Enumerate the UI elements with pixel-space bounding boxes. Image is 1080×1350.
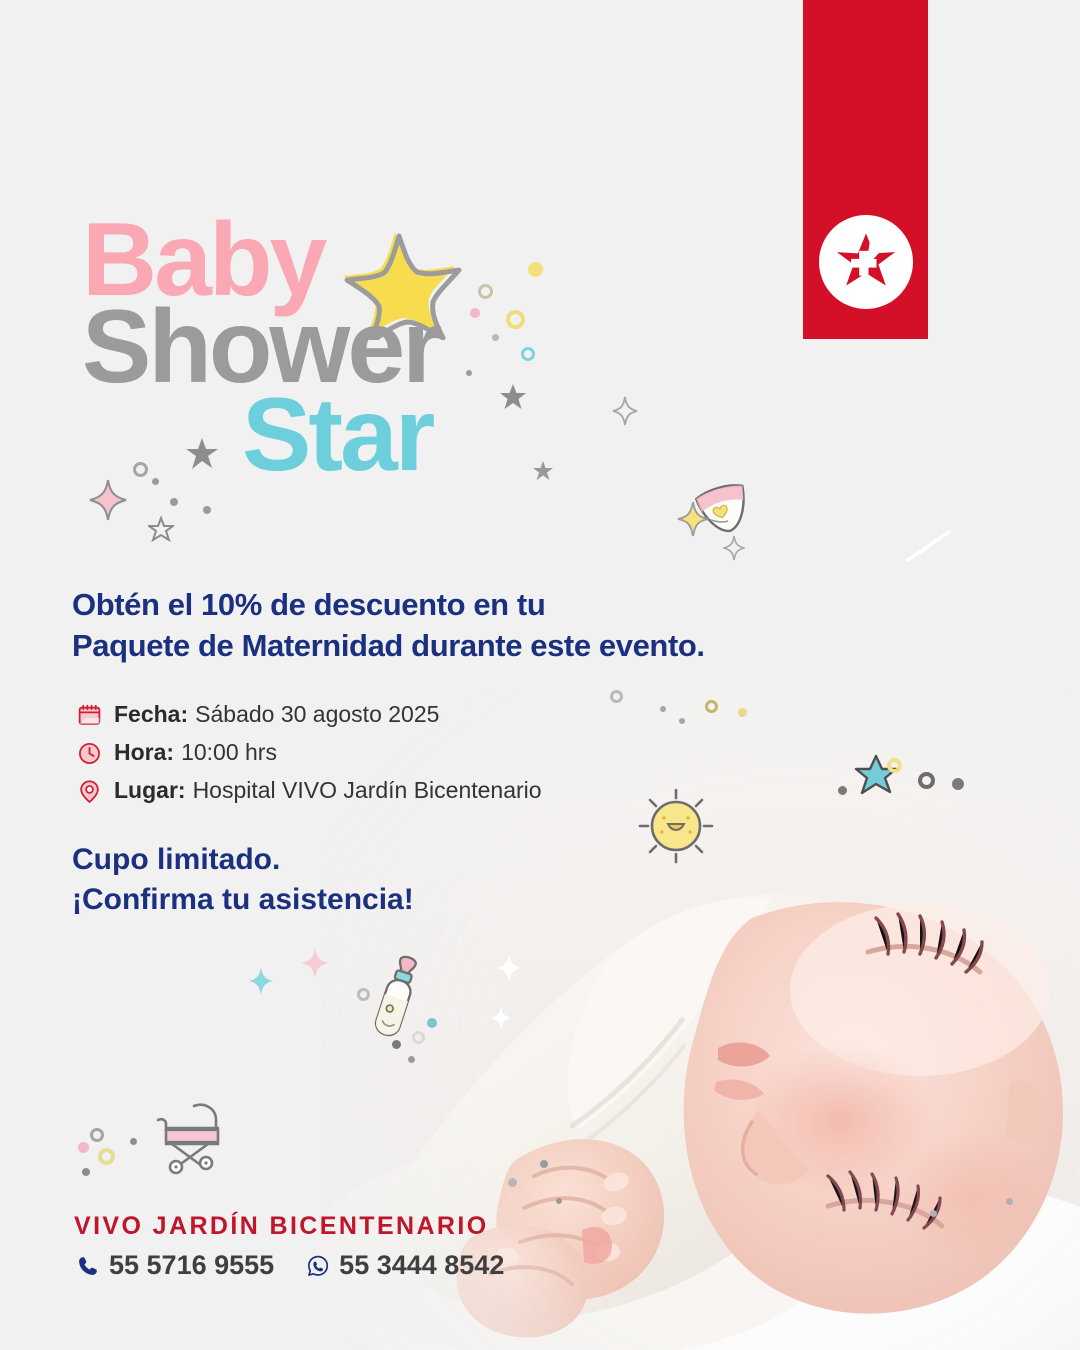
footer: VIVO JARDÍN BICENTENARIO 55 5716 9555 (74, 1212, 504, 1281)
confetti-dot (508, 1178, 517, 1187)
baby-bottle-doodle-icon (362, 952, 430, 1046)
headline-line-1: Obtén el 10% de descuento en tu (72, 585, 705, 626)
shooting-star-icon (905, 530, 951, 564)
confetti-dot (556, 1198, 562, 1204)
calendar-icon (74, 700, 104, 730)
detail-value-lugar: Hospital VIVO Jardín Bicentenario (193, 778, 542, 803)
clock-icon (74, 738, 104, 768)
gray-star-icon-2 (148, 516, 174, 542)
detail-value-hora: 10:00 hrs (181, 740, 277, 765)
confetti-dot (152, 478, 159, 485)
contact-whatsapp-number: 55 3444 8542 (339, 1250, 504, 1281)
detail-label-lugar: Lugar: (114, 778, 186, 803)
detail-value-fecha: Sábado 30 agosto 2025 (195, 702, 439, 727)
confetti-dot (540, 1160, 548, 1168)
sun-doodle-icon (628, 780, 724, 872)
confetti-ring (610, 690, 623, 703)
confetti-ring (90, 1128, 104, 1142)
detail-label-hora: Hora: (114, 740, 174, 765)
footer-contacts: 55 5716 9555 55 3444 8542 (74, 1250, 504, 1281)
gray-sparkle-icon-2 (723, 535, 745, 561)
headline-line-2: Paquete de Maternidad durante este event… (72, 626, 705, 667)
confetti-dot (660, 706, 666, 712)
confetti-ring (412, 1031, 425, 1044)
phone-icon (74, 1252, 102, 1280)
confetti-dot (203, 506, 211, 514)
confetti-dot (1006, 1198, 1013, 1205)
cta-line-2: ¡Confirma tu asistencia! (72, 880, 414, 920)
confetti-dot (78, 1142, 89, 1153)
confetti-dot (130, 1138, 137, 1145)
confetti-dot (838, 786, 847, 795)
confetti-dot (930, 1210, 937, 1217)
confetti-dot (679, 718, 685, 724)
teal-sparkle-icon (248, 966, 274, 996)
white-sparkle-icon-1 (496, 953, 522, 983)
confetti-ring (918, 772, 935, 789)
event-details: Fecha: Sábado 30 agosto 2025 Hora: 10:00… (74, 700, 542, 806)
confetti-dot (392, 1040, 401, 1049)
confetti-dot (82, 1168, 90, 1176)
confetti-dot (427, 1018, 437, 1028)
yellow-sparkle-icon (676, 500, 710, 538)
cta-line-1: Cupo limitado. (72, 840, 414, 880)
confetti-ring (887, 758, 902, 773)
poster-canvas: Baby Shower Star Obtén el 10% de descuen… (0, 0, 1080, 1350)
diaper-doodle-icon (690, 478, 756, 540)
brand-banner (803, 0, 928, 339)
contact-whatsapp[interactable]: 55 3444 8542 (304, 1250, 504, 1281)
confetti-ring (705, 700, 718, 713)
footer-location-name: VIVO JARDÍN BICENTENARIO (74, 1212, 504, 1241)
teal-star-doodle-icon (852, 752, 900, 798)
location-pin-icon (74, 776, 104, 806)
baby-stroller-doodle-icon (140, 1096, 232, 1178)
confetti-ring (357, 988, 370, 1001)
detail-row-hora: Hora: 10:00 hrs (74, 738, 542, 768)
confetti-dot (170, 498, 178, 506)
pink-sparkle-icon-2 (300, 946, 330, 980)
detail-row-lugar: Lugar: Hospital VIVO Jardín Bicentenario (74, 776, 542, 806)
confetti-ring (98, 1148, 115, 1165)
white-sparkle-icon-2 (490, 1005, 512, 1031)
pink-sparkle-icon (88, 478, 128, 522)
headline: Obtén el 10% de descuento en tu Paquete … (72, 585, 705, 667)
contact-phone[interactable]: 55 5716 9555 (74, 1250, 274, 1281)
detail-row-fecha: Fecha: Sábado 30 agosto 2025 (74, 700, 542, 730)
confetti-dot (738, 708, 747, 717)
title-line-star: Star (242, 393, 682, 478)
confetti-dot (408, 1056, 415, 1063)
vivo-star-cross-logo (819, 215, 913, 309)
contact-phone-number: 55 5716 9555 (109, 1250, 274, 1281)
detail-label-fecha: Fecha: (114, 702, 188, 727)
confetti-dot (952, 778, 964, 790)
page-title: Baby Shower Star (82, 218, 682, 478)
cta-text: Cupo limitado. ¡Confirma tu asistencia! (72, 840, 414, 919)
whatsapp-icon (304, 1252, 332, 1280)
